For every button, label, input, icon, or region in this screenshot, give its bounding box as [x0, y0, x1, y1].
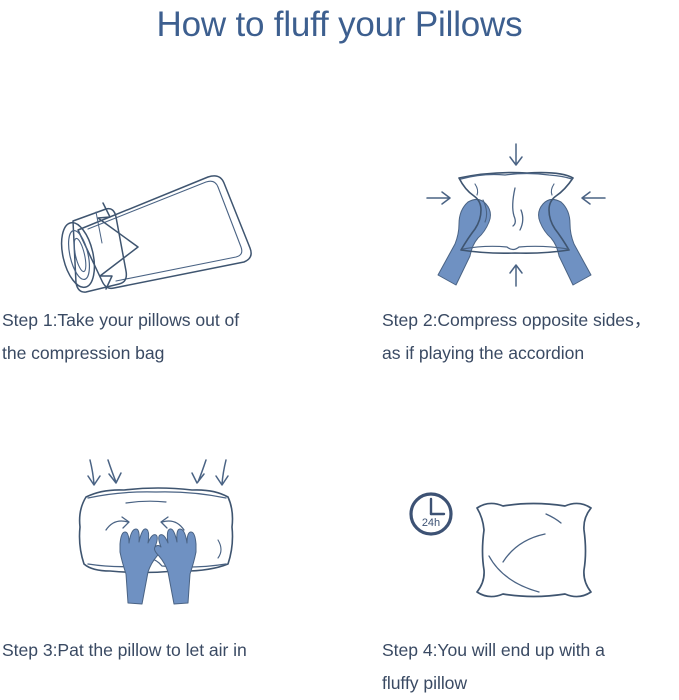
svg-text:24h: 24h: [422, 517, 440, 529]
step-caption-4: Step 4:You will end up with a fluffy pil…: [382, 634, 679, 700]
compression-bag-icon: [36, 155, 266, 295]
clock-24h-badge: 24h: [411, 494, 451, 534]
step-card-2: Step 2:Compress opposite sides， as if pl…: [375, 140, 679, 375]
page-title: How to fluff your Pillows: [0, 0, 679, 58]
pat-pillow-icon: [58, 452, 258, 612]
compress-pillow-icon: [423, 140, 633, 290]
step-card-3: Step 3:Pat the pillow to let air in: [0, 452, 340, 696]
step-card-1: Step 1:Take your pillows out of the comp…: [0, 140, 340, 375]
fluffy-pillow-icon: 24h: [403, 482, 623, 612]
step-caption-1: Step 1:Take your pillows out of the comp…: [2, 304, 332, 370]
step-card-4: 24h Step 4:You will end up with a fluffy…: [375, 452, 679, 696]
step-caption-3: Step 3:Pat the pillow to let air in: [2, 634, 332, 667]
infographic-page: How to fluff your Pillows: [0, 0, 679, 696]
step-caption-2: Step 2:Compress opposite sides， as if pl…: [382, 304, 679, 370]
